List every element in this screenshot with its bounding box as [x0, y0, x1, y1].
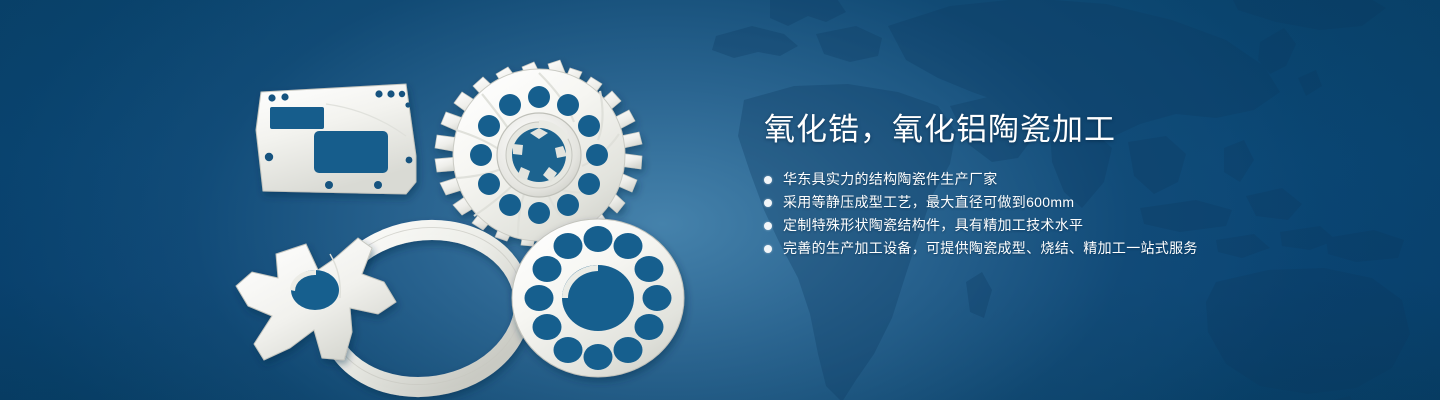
- list-item: 定制特殊形状陶瓷结构件，具有精加工技术水平: [764, 214, 1384, 237]
- bullet-dot-icon: [764, 222, 772, 230]
- banner-text-block: 氧化锆，氧化铝陶瓷加工 华东具实力的结构陶瓷件生产厂家 采用等静压成型工艺，最大…: [764, 108, 1384, 260]
- ceramic-perforated-disc-part: [512, 219, 684, 377]
- ceramic-plate-part: [256, 84, 416, 194]
- list-item: 采用等静压成型工艺，最大直径可做到600mm: [764, 191, 1384, 214]
- feature-text: 定制特殊形状陶瓷结构件，具有精加工技术水平: [783, 214, 1083, 237]
- list-item: 华东具实力的结构陶瓷件生产厂家: [764, 168, 1384, 191]
- page-title: 氧化锆，氧化铝陶瓷加工: [764, 108, 1384, 152]
- feature-text: 完善的生产加工设备，可提供陶瓷成型、烧结、精加工一站式服务: [783, 237, 1198, 260]
- bullet-dot-icon: [764, 245, 772, 253]
- promo-banner: 氧化锆，氧化铝陶瓷加工 华东具实力的结构陶瓷件生产厂家 采用等静压成型工艺，最大…: [0, 0, 1440, 400]
- product-photo-collage: [230, 58, 700, 393]
- list-item: 完善的生产加工设备，可提供陶瓷成型、烧结、精加工一站式服务: [764, 237, 1384, 260]
- feature-text: 华东具实力的结构陶瓷件生产厂家: [783, 168, 998, 191]
- feature-text: 采用等静压成型工艺，最大直径可做到600mm: [783, 191, 1074, 214]
- bullet-dot-icon: [764, 176, 772, 184]
- feature-list: 华东具实力的结构陶瓷件生产厂家 采用等静压成型工艺，最大直径可做到600mm 定…: [764, 168, 1384, 260]
- bullet-dot-icon: [764, 199, 772, 207]
- ceramic-impeller-part: [435, 60, 642, 246]
